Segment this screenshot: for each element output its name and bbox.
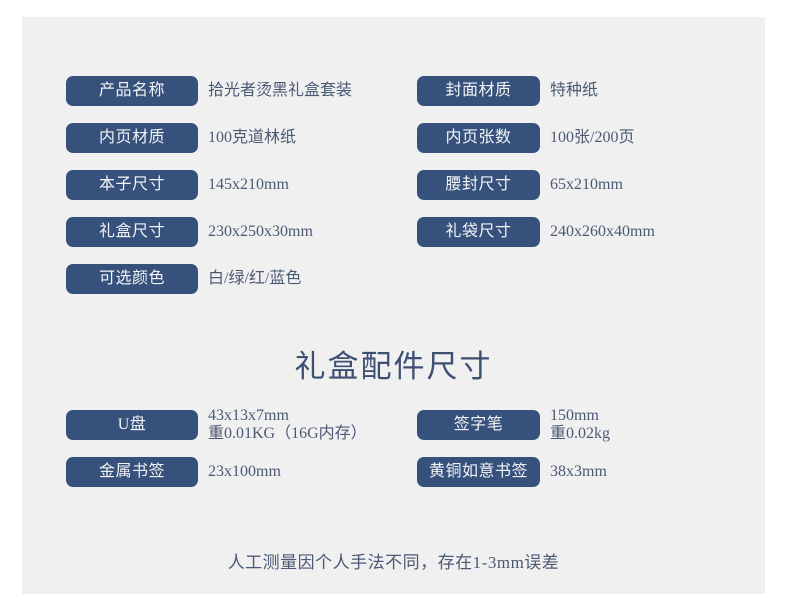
spec-label-available-colors: 可选颜色: [66, 264, 198, 294]
spec-row-gift-box-size: 礼盒尺寸 230x250x30mm: [66, 217, 406, 247]
spec-label-inner-paper-material: 内页材质: [66, 123, 198, 153]
spec-value-cover-material: 特种纸: [550, 76, 598, 106]
spec-value-available-colors: 白/绿/红/蓝色: [208, 264, 301, 294]
spec-value-usb-drive-line1: 43x13x7mm: [208, 407, 367, 425]
spec-label-gift-bag-size: 礼袋尺寸: [417, 217, 540, 247]
spec-value-belly-band-size: 65x210mm: [550, 170, 623, 200]
spec-value-notebook-size: 145x210mm: [208, 170, 289, 200]
spec-label-belly-band-size: 腰封尺寸: [417, 170, 540, 200]
spec-label-metal-bookmark: 金属书签: [66, 457, 198, 487]
spec-value-inner-paper-material: 100克道林纸: [208, 123, 296, 153]
measurement-tolerance-note: 人工测量因个人手法不同，存在1-3mm误差: [22, 548, 765, 573]
spec-row-brass-ruyi-bookmark: 黄铜如意书签 38x3mm: [417, 457, 757, 487]
spec-row-cover-material: 封面材质 特种纸: [417, 76, 757, 106]
spec-label-gel-pen: 签字笔: [417, 410, 540, 440]
spec-label-brass-ruyi-bookmark: 黄铜如意书签: [417, 457, 540, 487]
spec-row-product-name: 产品名称 拾光者烫黑礼盒套装: [66, 76, 406, 106]
spec-row-gel-pen: 签字笔 150mm 重0.02kg: [417, 410, 757, 440]
spec-value-usb-drive: 43x13x7mm 重0.01KG（16G内存）: [208, 407, 367, 443]
spec-value-brass-ruyi-bookmark: 38x3mm: [550, 457, 607, 487]
spec-panel: 产品名称 拾光者烫黑礼盒套装 内页材质 100克道林纸 本子尺寸 145x210…: [22, 17, 765, 594]
product-spec-page: 产品名称 拾光者烫黑礼盒套装 内页材质 100克道林纸 本子尺寸 145x210…: [0, 0, 790, 614]
spec-value-product-name: 拾光者烫黑礼盒套装: [208, 76, 352, 106]
spec-row-available-colors: 可选颜色 白/绿/红/蓝色: [66, 264, 406, 294]
spec-value-gel-pen: 150mm 重0.02kg: [550, 407, 610, 443]
spec-row-metal-bookmark: 金属书签 23x100mm: [66, 457, 406, 487]
spec-row-usb-drive: U盘 43x13x7mm 重0.01KG（16G内存）: [66, 410, 406, 440]
spec-label-cover-material: 封面材质: [417, 76, 540, 106]
spec-value-usb-drive-line2: 重0.01KG（16G内存）: [208, 425, 367, 443]
spec-label-inner-page-count: 内页张数: [417, 123, 540, 153]
spec-value-metal-bookmark: 23x100mm: [208, 457, 281, 487]
spec-value-gift-bag-size: 240x260x40mm: [550, 217, 655, 247]
spec-row-gift-bag-size: 礼袋尺寸 240x260x40mm: [417, 217, 757, 247]
spec-label-gift-box-size: 礼盒尺寸: [66, 217, 198, 247]
spec-row-inner-paper-material: 内页材质 100克道林纸: [66, 123, 406, 153]
spec-value-inner-page-count: 100张/200页: [550, 123, 634, 153]
spec-value-gel-pen-line1: 150mm: [550, 407, 610, 425]
spec-label-usb-drive: U盘: [66, 410, 198, 440]
spec-value-gel-pen-line2: 重0.02kg: [550, 425, 610, 443]
spec-value-gift-box-size: 230x250x30mm: [208, 217, 313, 247]
spec-row-belly-band-size: 腰封尺寸 65x210mm: [417, 170, 757, 200]
spec-label-notebook-size: 本子尺寸: [66, 170, 198, 200]
spec-label-product-name: 产品名称: [66, 76, 198, 106]
accessories-section-title: 礼盒配件尺寸: [22, 341, 765, 386]
spec-row-notebook-size: 本子尺寸 145x210mm: [66, 170, 406, 200]
spec-row-inner-page-count: 内页张数 100张/200页: [417, 123, 757, 153]
